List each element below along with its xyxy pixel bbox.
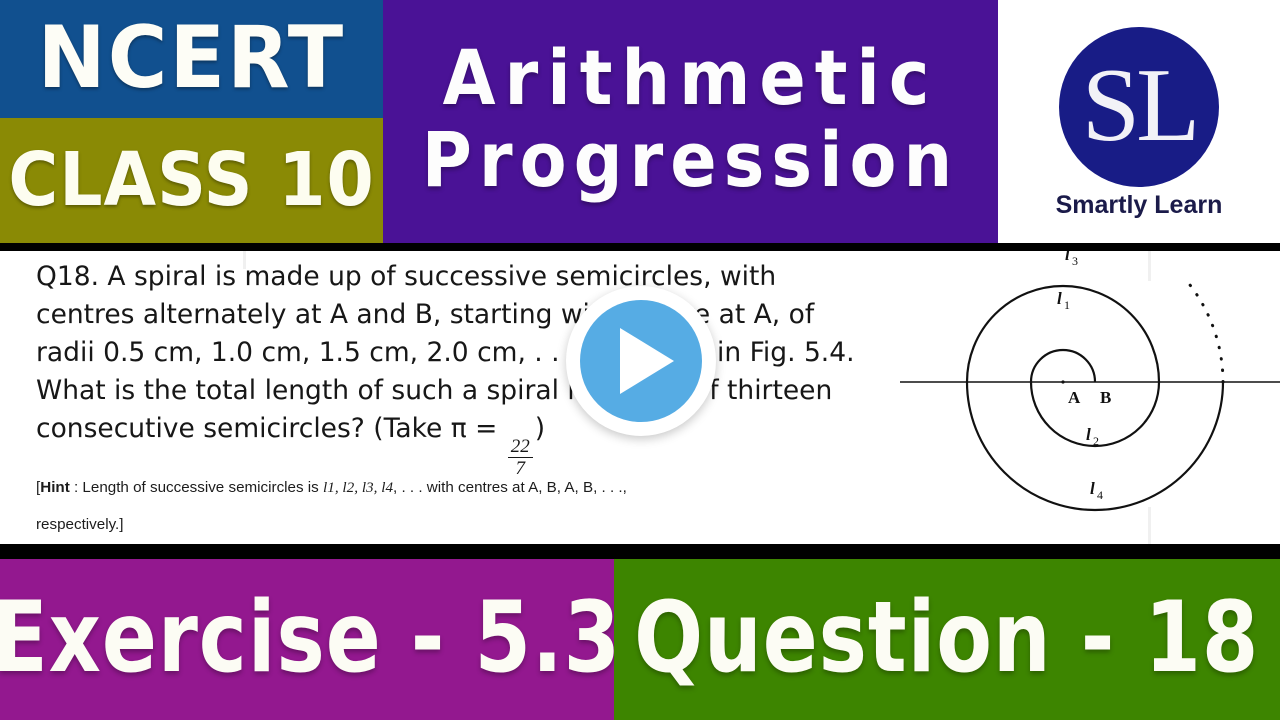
play-button[interactable] (566, 286, 716, 436)
closing-paren: ) (535, 413, 545, 444)
logo-monogram: SL (1082, 52, 1197, 157)
hint-label: Hint (40, 479, 70, 496)
board-badge: NCERT (0, 0, 383, 118)
play-button-circle (580, 300, 702, 422)
chapter-title-line2: Progression (422, 122, 959, 198)
divider-bottom (0, 544, 1280, 559)
exercise-badge: Exercise - 5.3 (0, 559, 614, 720)
divider-top (0, 243, 1280, 251)
logo-circle-icon: SL (1059, 27, 1219, 187)
pi-numerator: 22 (508, 437, 533, 456)
hint-text-1: : Length of successive semicircles is (70, 479, 323, 496)
label-l1-sub: 1 (1064, 298, 1070, 312)
class-label: CLASS 10 (8, 145, 374, 215)
question-line-2: centres alternately at A and B, starting… (36, 296, 896, 334)
question-line-1: Q18. A spiral is made up of successive s… (36, 258, 896, 296)
question-text: Q18. A spiral is made up of successive s… (36, 258, 896, 478)
question-line-5: consecutive semicircles? (Take π = 227) (36, 410, 896, 478)
label-l4-sub: 4 (1097, 488, 1103, 502)
brand-logo: SL Smartly Learn (998, 0, 1280, 243)
hint-symbols: l1, l2, l3, l4 (323, 479, 393, 496)
label-l4-letter: l (1090, 479, 1095, 498)
video-frame: NCERT CLASS 10 Arithmetic Progression SL… (0, 0, 1280, 720)
exercise-label: Exercise - 5.3 (0, 589, 621, 687)
label-l3-letter: l (1065, 251, 1070, 264)
hint-block: [Hint : Length of successive semicircles… (36, 469, 936, 543)
label-l2-sub: 2 (1093, 434, 1099, 448)
hint-line-2: respectively.] (36, 506, 936, 543)
hint-line-1: [Hint : Length of successive semicircles… (36, 469, 936, 506)
question-label: Question - 18 (634, 589, 1259, 687)
play-icon (620, 328, 674, 394)
question-line-4: What is the total length of such a spira… (36, 372, 896, 410)
chapter-title-panel: Arithmetic Progression (383, 0, 998, 243)
spiral-diagram-svg: A B l 1 l 2 l 3 l 4 (900, 251, 1280, 544)
spiral-figure: A B l 1 l 2 l 3 l 4 (900, 251, 1280, 544)
hint-text-2: , . . . with centres at A, B, A, B, . . … (393, 479, 627, 496)
board-label: NCERT (38, 18, 346, 100)
label-l1-letter: l (1057, 289, 1062, 308)
label-centre-b: B (1100, 388, 1111, 407)
semicircle-l1 (1031, 350, 1095, 382)
semicircle-l3 (967, 286, 1159, 382)
question-line-3: radii 0.5 cm, 1.0 cm, 1.5 cm, 2.0 cm, . … (36, 334, 896, 372)
class-badge: CLASS 10 (0, 118, 383, 243)
label-l2-letter: l (1086, 425, 1091, 444)
question-line-5-text: consecutive semicircles? (Take π = (36, 413, 506, 444)
chapter-title-line1: Arithmetic (443, 40, 939, 116)
logo-caption: Smartly Learn (1056, 191, 1223, 220)
semicircle-l5-dotted (1190, 285, 1223, 382)
footer-banner: Exercise - 5.3 Question - 18 (0, 559, 1280, 720)
centre-point-a (1061, 380, 1064, 383)
header-banner: NCERT CLASS 10 Arithmetic Progression SL… (0, 0, 1280, 243)
question-badge: Question - 18 (614, 559, 1280, 720)
label-l3-sub: 3 (1072, 254, 1078, 268)
label-centre-a: A (1068, 388, 1081, 407)
